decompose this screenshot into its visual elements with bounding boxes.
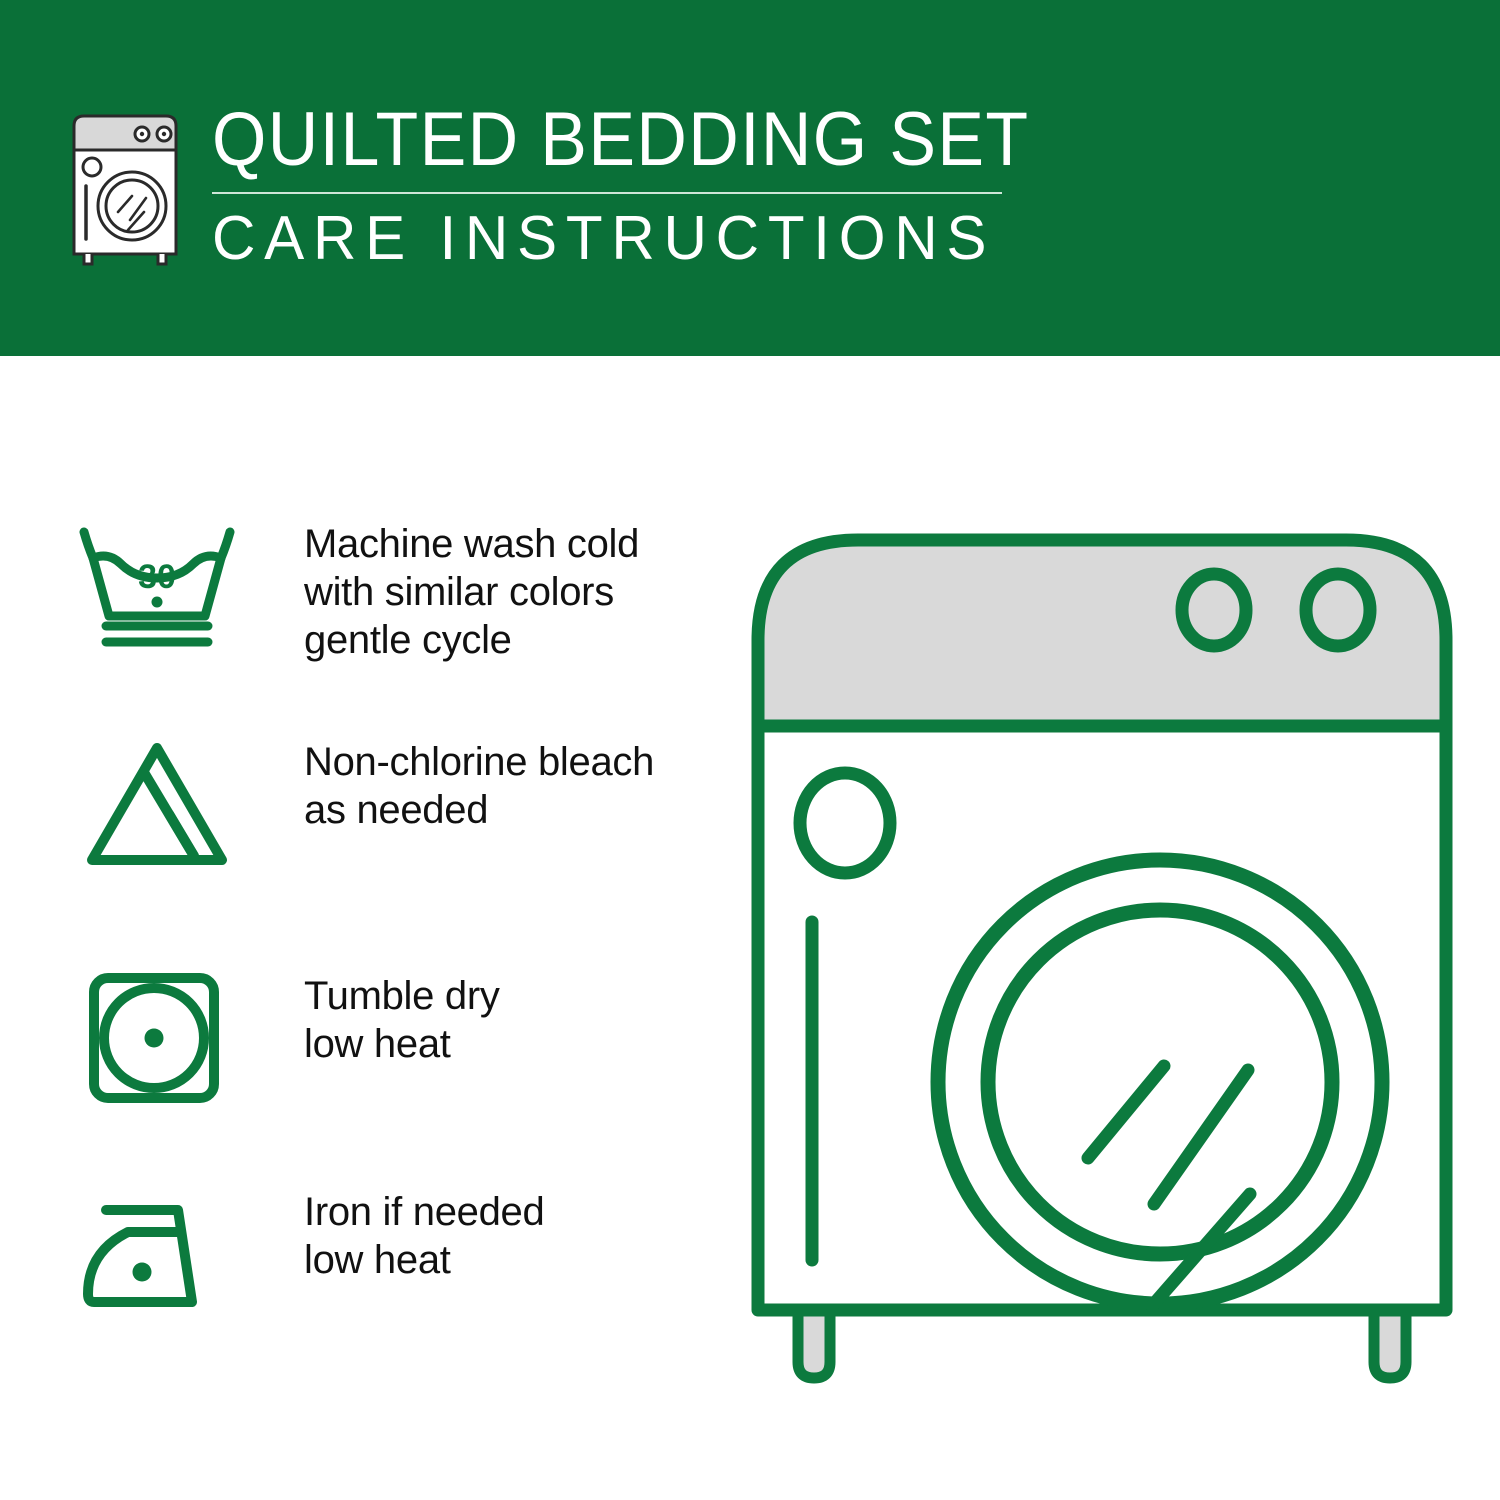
wash-tub-icon: 30 <box>72 516 242 656</box>
care-text-iron: Iron if needed low heat <box>304 1184 544 1284</box>
tumble-dry-icon <box>72 968 242 1108</box>
washing-machine-icon <box>60 104 190 269</box>
iron-icon <box>72 1184 242 1324</box>
header-banner: QUILTED BEDDING SET CARE INSTRUCTIONS <box>0 0 1500 356</box>
front-load-washing-machine-icon <box>740 470 1480 1430</box>
care-text-bleach: Non-chlorine bleach as needed <box>304 734 654 834</box>
care-row-tumble-dry: Tumble dry low heat <box>72 968 500 1108</box>
header-content: QUILTED BEDDING SET CARE INSTRUCTIONS <box>60 100 1101 274</box>
washing-machine-illustration <box>740 470 1480 1430</box>
page-title: QUILTED BEDDING SET <box>212 100 1029 180</box>
care-text-tumble-dry: Tumble dry low heat <box>304 968 500 1068</box>
page-subtitle: CARE INSTRUCTIONS <box>212 204 1074 274</box>
care-instructions-list: 30 Machine wash cold with similar colors… <box>0 356 740 1500</box>
care-row-iron: Iron if needed low heat <box>72 1184 544 1324</box>
title-block: QUILTED BEDDING SET CARE INSTRUCTIONS <box>212 100 1101 274</box>
care-text-wash: Machine wash cold with similar colors ge… <box>304 516 639 664</box>
care-row-wash: 30 Machine wash cold with similar colors… <box>72 516 639 664</box>
care-row-bleach: Non-chlorine bleach as needed <box>72 734 654 874</box>
bleach-triangle-icon <box>72 734 242 874</box>
wash-temperature-label: 30 <box>138 558 176 596</box>
machine-body <box>758 726 1446 1310</box>
title-divider <box>212 192 1002 194</box>
